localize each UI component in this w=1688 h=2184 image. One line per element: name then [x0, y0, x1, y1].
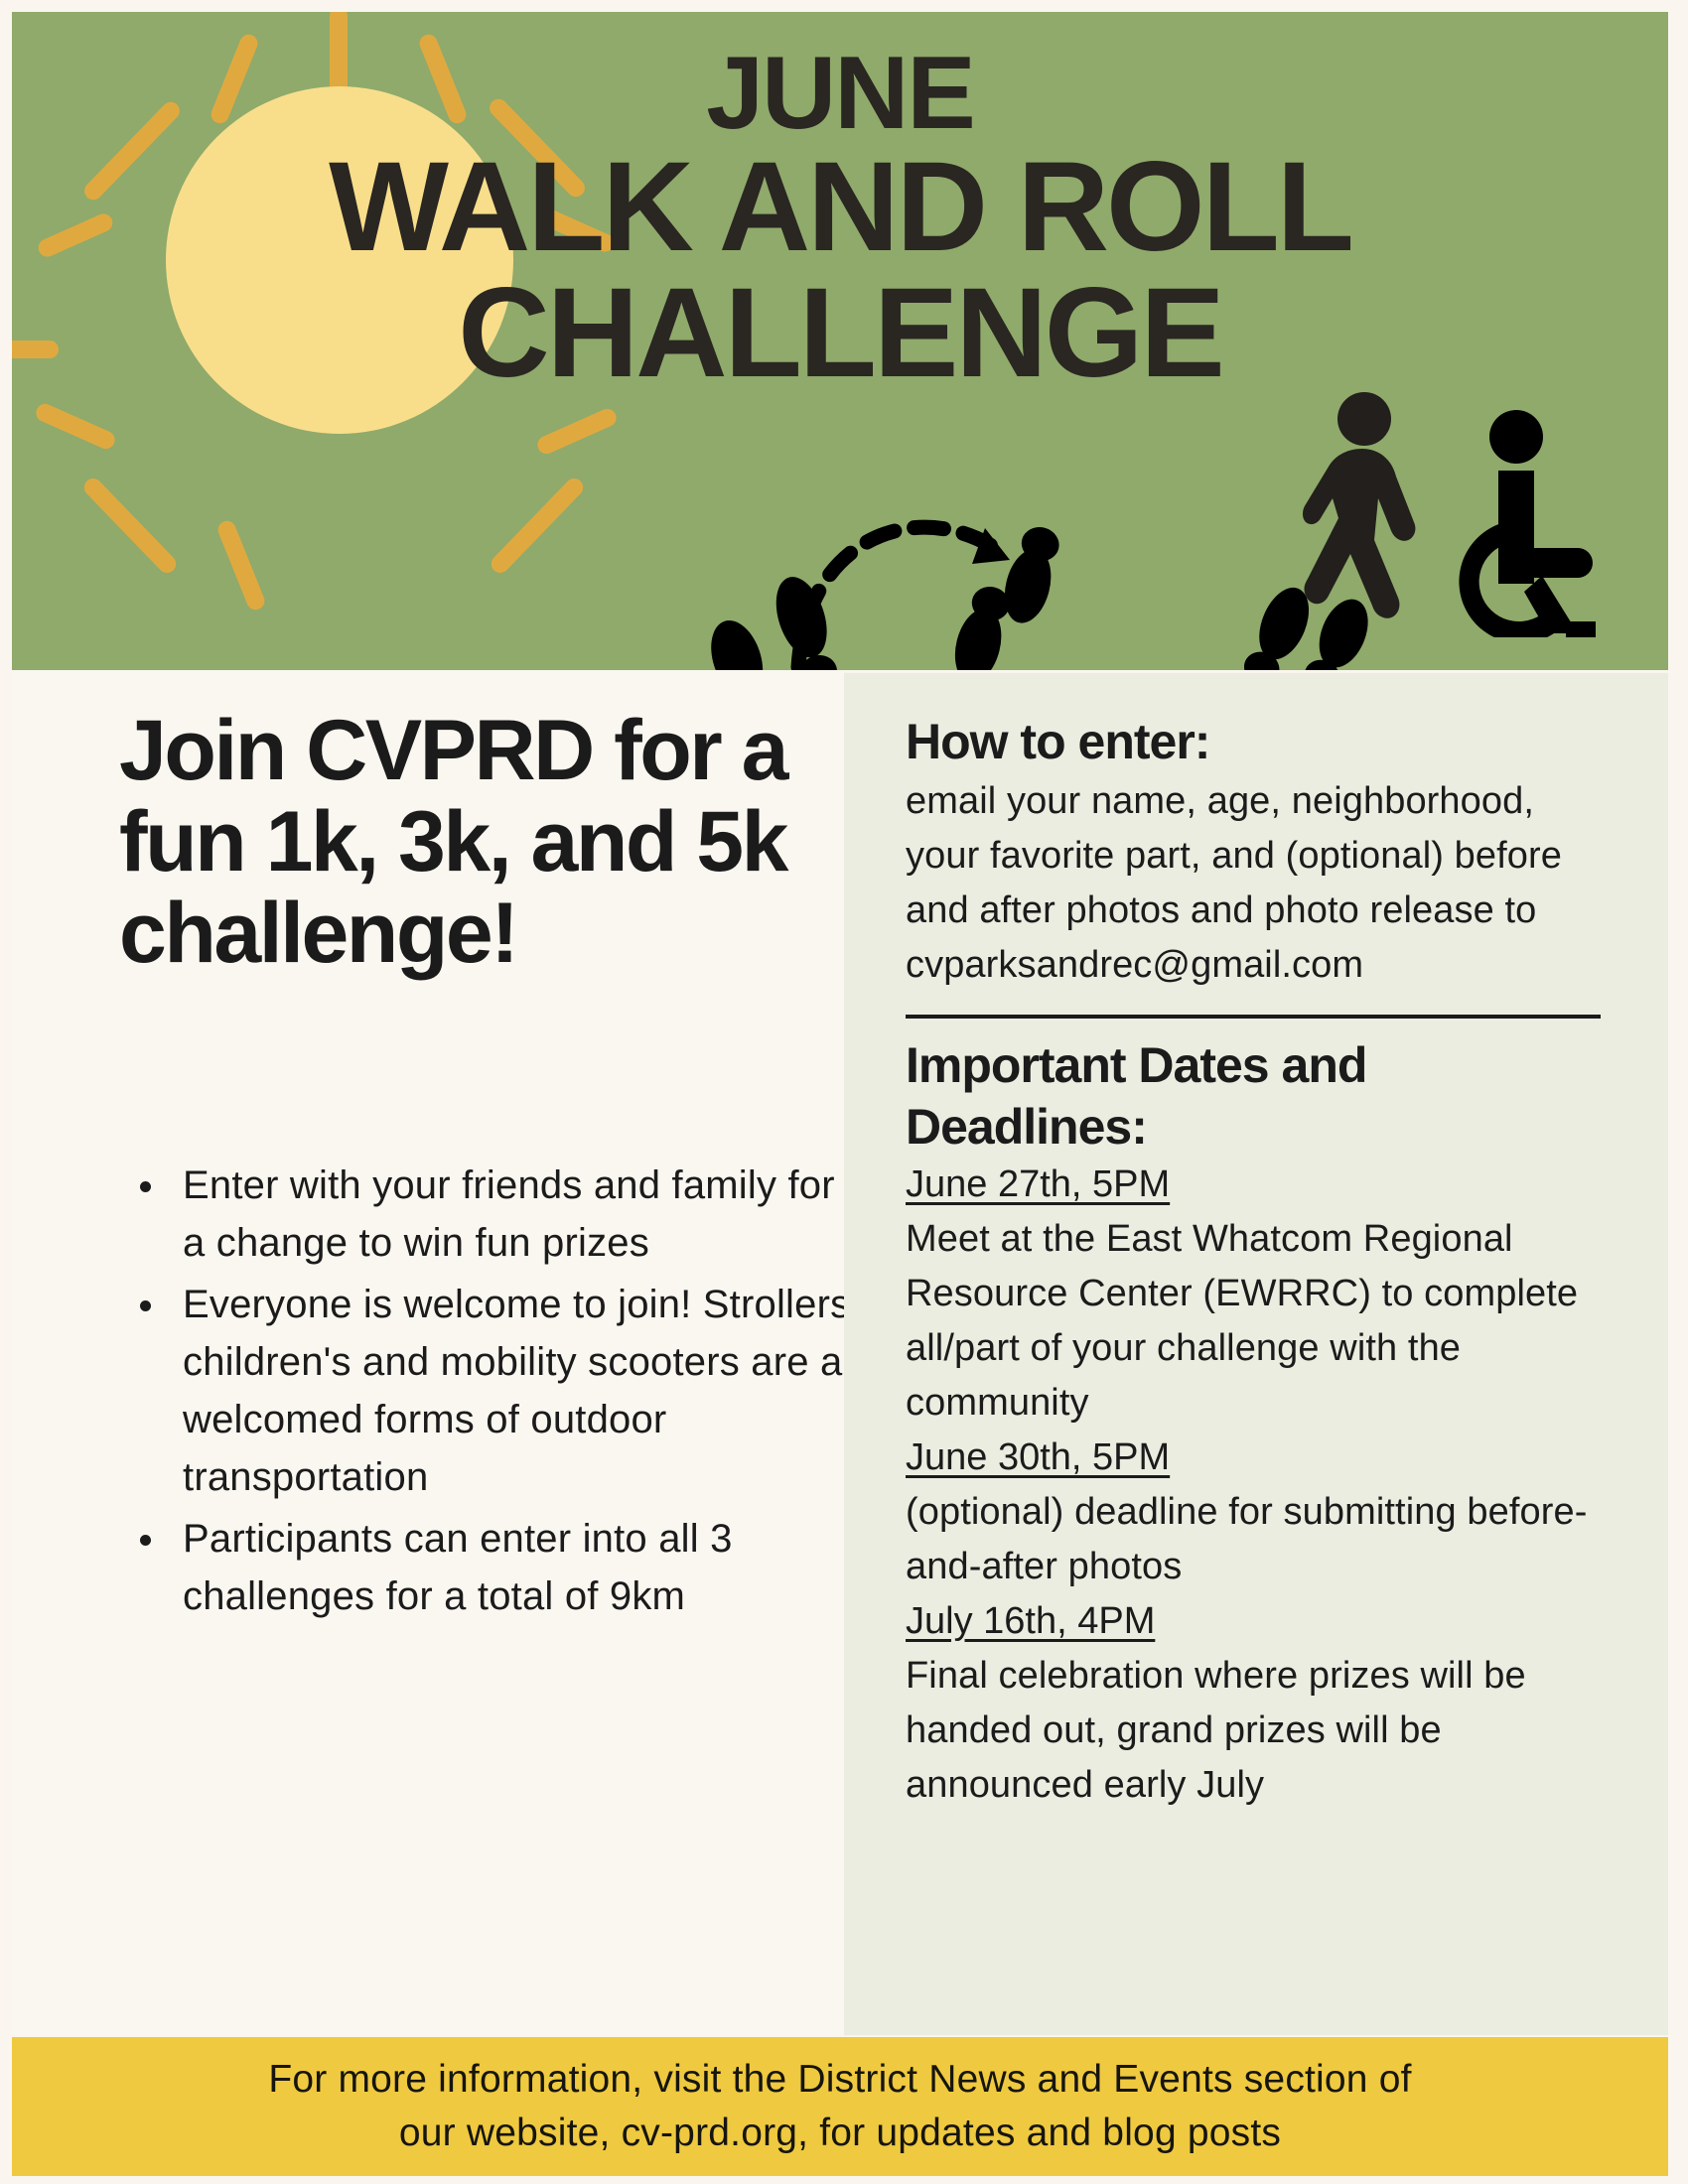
- poster-title: JUNE WALK AND ROLL CHALLENGE: [12, 42, 1668, 397]
- footprints-trail-icon: [667, 478, 1362, 670]
- section-divider: [906, 1015, 1601, 1019]
- walking-person-icon: [1303, 391, 1432, 639]
- footer-text: For more information, visit the District…: [268, 2053, 1411, 2160]
- sun-ray-icon: [535, 406, 620, 457]
- date-label-3: July 16th, 4PM: [906, 1594, 1611, 1649]
- left-headline: Join CVPRD for a fun 1k, 3k, and 5k chal…: [119, 705, 814, 979]
- sun-ray-icon: [488, 475, 587, 576]
- important-dates-heading-line1: Important Dates and: [906, 1036, 1611, 1094]
- how-to-enter-heading: How to enter:: [906, 713, 1611, 770]
- footer-line-1: For more information, visit the District…: [268, 2053, 1411, 2107]
- poster-page: JUNE WALK AND ROLL CHALLENGE: [0, 0, 1688, 2184]
- date-description-2: (optional) deadline for submitting befor…: [906, 1485, 1611, 1594]
- list-item: Participants can enter into all 3 challe…: [169, 1510, 864, 1625]
- footer-banner: For more information, visit the District…: [12, 2037, 1668, 2176]
- wheelchair-icon: [1457, 409, 1596, 637]
- title-line-walk-and-roll: WALK AND ROLL: [12, 145, 1668, 270]
- date-description-3: Final celebration where prizes will be h…: [906, 1649, 1611, 1813]
- list-item: Everyone is welcome to join! Strollers, …: [169, 1276, 864, 1506]
- sun-ray-icon: [34, 401, 118, 452]
- right-column: How to enter: email your name, age, neig…: [844, 673, 1668, 2035]
- how-to-enter-body: email your name, age, neighborhood, your…: [906, 774, 1611, 993]
- left-column: Join CVPRD for a fun 1k, 3k, and 5k chal…: [12, 670, 844, 2035]
- sun-ray-icon: [80, 475, 180, 576]
- header-banner: JUNE WALK AND ROLL CHALLENGE: [12, 12, 1668, 670]
- list-item: Enter with your friends and family for a…: [169, 1157, 864, 1272]
- date-label-2: June 30th, 5PM: [906, 1431, 1611, 1485]
- benefits-list: Enter with your friends and family for a…: [121, 1157, 864, 1629]
- title-line-challenge: CHALLENGE: [12, 270, 1668, 397]
- footer-line-2: our website, cv-prd.org, for updates and…: [268, 2107, 1411, 2160]
- date-label-1: June 27th, 5PM: [906, 1158, 1611, 1212]
- important-dates-heading-line2: Deadlines:: [906, 1098, 1611, 1156]
- sun-ray-icon: [215, 518, 267, 613]
- date-description-1: Meet at the East Whatcom Regional Resour…: [906, 1212, 1611, 1431]
- title-line-june: JUNE: [12, 42, 1668, 145]
